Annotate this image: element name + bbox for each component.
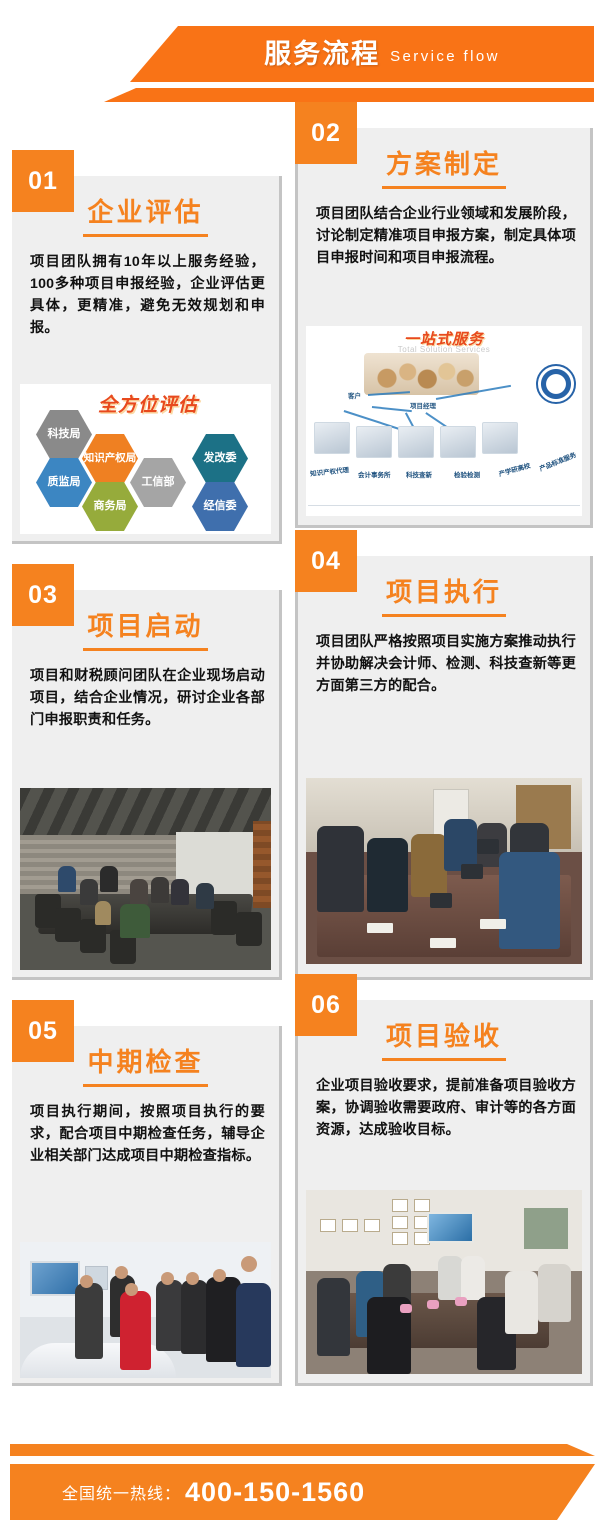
showroom-visit-photo [20, 1242, 271, 1378]
hexagon-node-ipoffice: 知识产权局 [82, 434, 138, 483]
step-number-badge-05: 05 [12, 1000, 74, 1062]
card-graphic-01: 全方位评估 科技局 知识产权局 质监局 商务局 工信部 发改委 经信委 [20, 384, 271, 534]
card-body-03: 项目和财税顾问团队在企业现场启动项目，结合企业情况，研讨企业各部门申报职责和任务… [12, 651, 279, 741]
oss-arrow-2 [372, 406, 412, 412]
step-number-badge-06: 06 [295, 974, 357, 1036]
card-photo-06 [306, 1190, 582, 1374]
page-title: 服务流程 [264, 41, 380, 68]
oss-node-2 [356, 426, 392, 458]
meeting-room-photo [20, 788, 271, 970]
footer-accent-stripe [10, 1444, 595, 1456]
hexagon-node-keji: 科技局 [36, 410, 92, 459]
hexagon-node-shangwu: 商务局 [82, 482, 138, 531]
oss-label-customer: 客户 [348, 390, 361, 400]
card-title-05: 中期检查 [83, 1048, 207, 1087]
card-body-04: 项目团队严格按照项目实施方案推动执行并协助解决会计师、检测、科技查新等更方面第三… [298, 617, 590, 707]
hexagon-chart-title: 全方位评估 [98, 390, 198, 417]
card-body-01: 项目团队拥有10年以上服务经验，100多种项目申报经验，企业评估更具体，更精准，… [12, 237, 279, 349]
oss-caption-5: 产学研高校 [497, 460, 531, 479]
card-title-04: 项目执行 [382, 578, 506, 617]
footer-hotline-bar[interactable]: 全国统一热线： 400-150-1560 [10, 1464, 595, 1520]
step-number-badge-02: 02 [295, 102, 357, 164]
step-card-02[interactable]: 02 方案制定 项目团队结合企业行业领域和发展阶段，讨论制定精准项目申报方案，制… [295, 128, 593, 528]
hexagon-node-jingxin: 经信委 [192, 482, 248, 531]
card-title-02: 方案制定 [382, 150, 506, 189]
card-title-03: 项目启动 [83, 612, 207, 651]
hexagon-node-gongxin: 工信部 [130, 458, 186, 507]
oss-node-5 [482, 422, 518, 454]
oss-label-project-manager: 项目经理 [410, 400, 436, 410]
oss-caption-3: 科技查新 [406, 469, 432, 479]
oss-node-1 [314, 422, 350, 454]
step-card-01[interactable]: 01 企业评估 项目团队拥有10年以上服务经验，100多种项目申报经验，企业评估… [12, 176, 282, 544]
step-number-badge-04: 04 [295, 530, 357, 592]
oss-floor-line [308, 505, 580, 506]
card-photo-03 [20, 788, 271, 970]
card-title-06: 项目验收 [382, 1022, 506, 1061]
card-body-06: 企业项目验收要求，提前准备项目验收方案，协调验收需要政府、审计等的各方面资源，达… [298, 1061, 590, 1151]
oss-caption-4: 检验检测 [454, 469, 480, 479]
hexagon-node-zhijian: 质监局 [36, 458, 92, 507]
hexagon-chart: 全方位评估 科技局 知识产权局 质监局 商务局 工信部 发改委 经信委 [20, 384, 271, 534]
step-number-badge-03: 03 [12, 564, 74, 626]
one-stop-service-diagram: 一站式服务 Total Solution Services 客户 项目经理 知识… [306, 326, 582, 516]
step-number-badge-01: 01 [12, 150, 74, 212]
oss-certification-seal [536, 364, 576, 404]
service-flow-infographic: 服务流程 Service flow 01 企业评估 项目团队拥有10年以上服务经… [0, 0, 605, 1538]
project-execution-photo [306, 778, 582, 964]
hotline-number[interactable]: 400-150-1560 [185, 1477, 365, 1508]
header-accent-stripe [104, 88, 594, 102]
oss-node-3 [398, 426, 434, 458]
oss-hero-photo [364, 353, 479, 395]
card-body-02: 项目团队结合企业行业领域和发展阶段，讨论制定精准项目申报方案，制定具体项目申报时… [298, 189, 590, 279]
step-card-04[interactable]: 04 项目执行 项目团队严格按照项目实施方案推动执行并协助解决会计师、检测、科技… [295, 556, 593, 980]
acceptance-meeting-photo [306, 1190, 582, 1374]
card-photo-04 [306, 778, 582, 964]
oss-node-4 [440, 426, 476, 458]
page-subtitle: Service flow [390, 43, 500, 65]
header-title-group: 服务流程 Service flow [130, 26, 594, 82]
step-card-03[interactable]: 03 项目启动 项目和财税顾问团队在企业现场启动项目，结合企业情况，研讨企业各部… [12, 590, 282, 980]
card-body-05: 项目执行期间，按照项目执行的要求，配合项目中期检查任务，辅导企业相关部门达成项目… [12, 1087, 279, 1177]
oss-caption-6: 产品标准服务 [538, 449, 578, 473]
oss-caption-1: 知识产权代理 [310, 464, 350, 478]
step-card-06[interactable]: 06 项目验收 企业项目验收要求，提前准备项目验收方案，协调验收需要政府、审计等… [295, 1000, 593, 1386]
page-footer: 全国统一热线： 400-150-1560 [0, 1408, 605, 1538]
step-card-05[interactable]: 05 中期检查 项目执行期间，按照项目执行的要求，配合项目中期检查任务，辅导企业… [12, 1026, 282, 1386]
card-graphic-02: 一站式服务 Total Solution Services 客户 项目经理 知识… [306, 326, 582, 516]
oss-caption-2: 会计事务所 [358, 469, 391, 479]
card-photo-05 [20, 1242, 271, 1378]
hotline-label: 全国统一热线： [62, 1480, 181, 1504]
card-title-01: 企业评估 [83, 198, 207, 237]
hexagon-node-fagai: 发改委 [192, 434, 248, 483]
